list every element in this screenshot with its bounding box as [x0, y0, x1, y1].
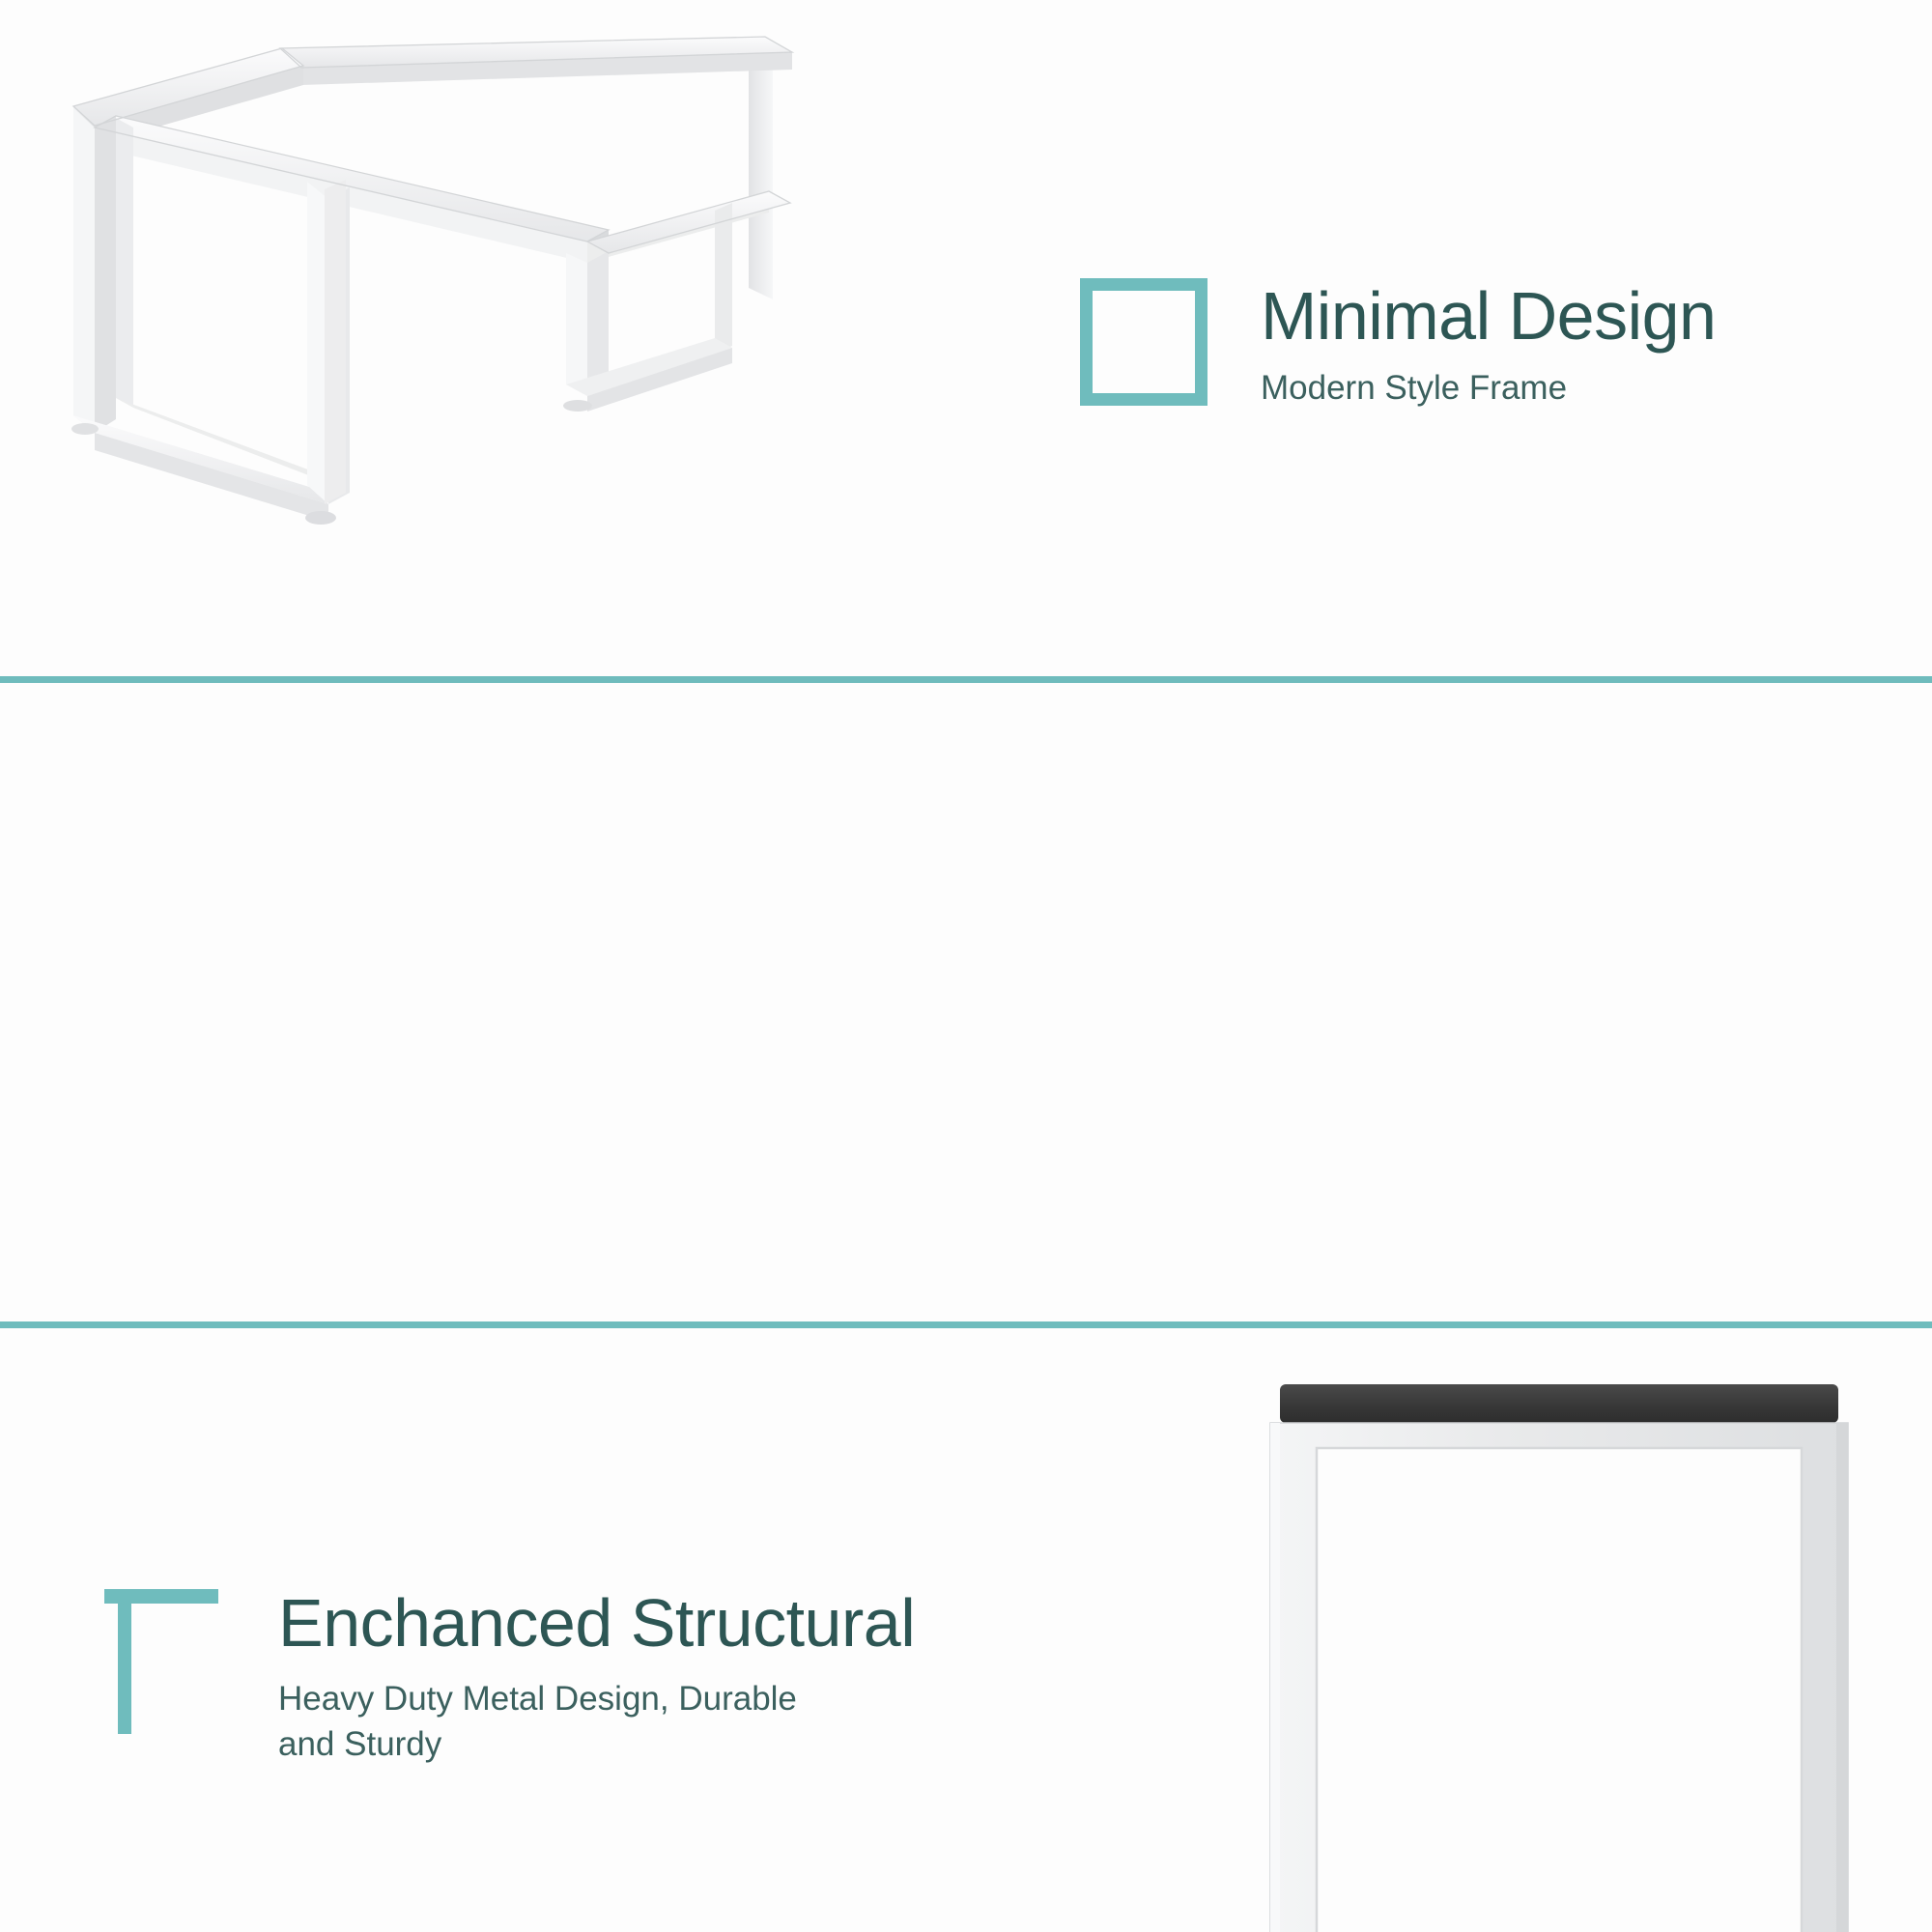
feature-text-block: Minimal Design Modern Style Frame [1261, 278, 1716, 412]
section-minimal-design: Minimal Design Modern Style Frame [0, 0, 1932, 676]
feature-title: Minimal Design [1261, 282, 1716, 351]
square-outline-icon-wrap [1080, 278, 1207, 406]
section-adjustable-legs-pads: Adjustable Legs Pads Suitable for uneven… [0, 1328, 1932, 1932]
feature-subtitle: Modern Style Frame [1261, 366, 1716, 411]
feature-minimal-design: Minimal Design Modern Style Frame [1080, 278, 1716, 412]
section-divider-1 [0, 676, 1932, 683]
square-outline-icon [1080, 278, 1207, 406]
desk-frame-perspective-photo [39, 10, 811, 681]
section-enchanced-structural: Enchanced Structural Heavy Duty Metal De… [0, 683, 1932, 1321]
section-divider-2 [0, 1321, 1932, 1328]
infographic-page: Minimal Design Modern Style Frame [0, 0, 1932, 1932]
